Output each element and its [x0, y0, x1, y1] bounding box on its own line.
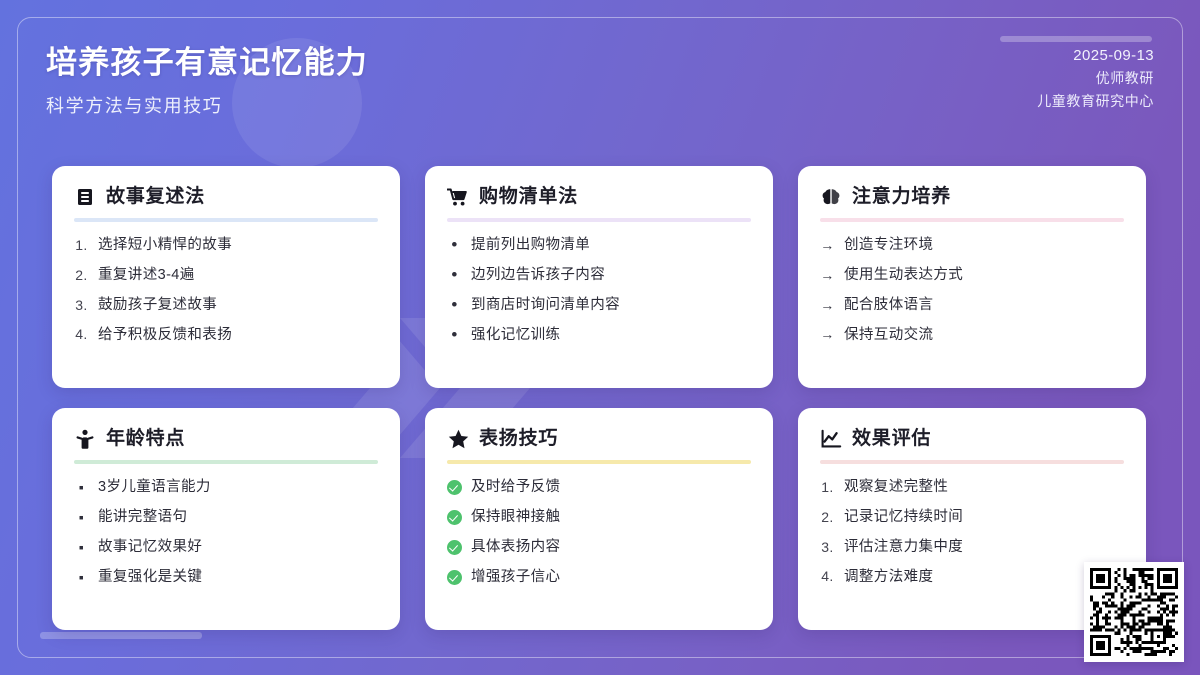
bullet-dot-icon: •: [447, 326, 462, 344]
bullet-square-icon: ▪: [74, 478, 89, 496]
list-item: 1.观察复述完整性: [820, 478, 1124, 497]
slide-header: 培养孩子有意记忆能力 科学方法与实用技巧 2025-09-13 优师教研 儿童教…: [0, 0, 1200, 150]
list-item-label: 强化记忆训练: [471, 326, 751, 345]
list-item-label: 及时给予反馈: [471, 478, 751, 497]
card-header: 注意力培养: [820, 186, 1124, 212]
chart-line-icon: [820, 428, 842, 450]
card-title: 注意力培养: [852, 187, 951, 208]
list-marker-number: 1.: [820, 478, 835, 496]
list-item-label: 到商店时询问清单内容: [471, 296, 751, 315]
list-item: •到商店时询问清单内容: [447, 296, 751, 315]
list-marker-number: 3.: [74, 296, 89, 314]
card-item-list: •提前列出购物清单•边列边告诉孩子内容•到商店时询问清单内容•强化记忆训练: [447, 236, 751, 344]
card-5: 表扬技巧及时给予反馈保持眼神接触具体表扬内容增强孩子信心: [425, 408, 773, 630]
page-subtitle: 科学方法与实用技巧: [46, 92, 368, 118]
list-item-label: 创造专注环境: [844, 236, 1124, 255]
arrow-right-icon: →: [820, 326, 835, 344]
list-item-label: 使用生动表达方式: [844, 266, 1124, 285]
list-marker-number: 2.: [820, 508, 835, 526]
card-header: 购物清单法: [447, 186, 751, 212]
check-circle-icon: [447, 480, 462, 495]
list-item: ▪重复强化是关键: [74, 568, 378, 587]
list-item: •强化记忆训练: [447, 326, 751, 345]
list-marker-number: 2.: [74, 266, 89, 284]
qr-code[interactable]: [1084, 562, 1184, 662]
list-marker-number: 1.: [74, 236, 89, 254]
card-title: 故事复述法: [106, 187, 205, 208]
list-item: 2.记录记忆持续时间: [820, 508, 1124, 527]
list-item-label: 具体表扬内容: [471, 538, 751, 557]
list-item-label: 3岁儿童语言能力: [98, 478, 378, 497]
bullet-square-icon: ▪: [74, 538, 89, 556]
card-header: 效果评估: [820, 428, 1124, 454]
card-4: 年龄特点▪3岁儿童语言能力▪能讲完整语句▪故事记忆效果好▪重复强化是关键: [52, 408, 400, 630]
card-underline: [447, 218, 751, 222]
list-item-label: 重复强化是关键: [98, 568, 378, 587]
list-item-label: 保持互动交流: [844, 326, 1124, 345]
arrow-right-icon: →: [820, 296, 835, 314]
list-item: 具体表扬内容: [447, 538, 751, 557]
shopping-cart-icon: [447, 186, 469, 208]
list-item-label: 记录记忆持续时间: [844, 508, 1124, 527]
list-item: ▪3岁儿童语言能力: [74, 478, 378, 497]
list-item: 3.鼓励孩子复述故事: [74, 296, 378, 315]
card-header: 故事复述法: [74, 186, 378, 212]
list-marker-number: 3.: [820, 538, 835, 556]
header-organization-sub: 儿童教育研究中心: [1037, 90, 1154, 113]
list-item: 保持眼神接触: [447, 508, 751, 527]
header-date: 2025-09-13: [1037, 44, 1154, 67]
card-item-list: 1.选择短小精悍的故事2.重复讲述3-4遍3.鼓励孩子复述故事4.给予积极反馈和…: [74, 236, 378, 344]
header-organization: 优师教研: [1037, 67, 1154, 90]
list-item: 增强孩子信心: [447, 568, 751, 587]
list-item: →创造专注环境: [820, 236, 1124, 255]
list-item: →使用生动表达方式: [820, 266, 1124, 285]
list-item: •提前列出购物清单: [447, 236, 751, 255]
list-item-label: 调整方法难度: [844, 568, 1124, 587]
list-item: •边列边告诉孩子内容: [447, 266, 751, 285]
card-underline: [74, 460, 378, 464]
list-item: →配合肢体语言: [820, 296, 1124, 315]
card-underline: [74, 218, 378, 222]
list-item-label: 边列边告诉孩子内容: [471, 266, 751, 285]
list-item-label: 配合肢体语言: [844, 296, 1124, 315]
header-title-block: 培养孩子有意记忆能力 科学方法与实用技巧: [46, 44, 368, 118]
bullet-square-icon: ▪: [74, 508, 89, 526]
list-marker-number: 4.: [74, 326, 89, 344]
decorative-bar-bottom-left: [40, 632, 202, 639]
card-grid: 故事复述法1.选择短小精悍的故事2.重复讲述3-4遍3.鼓励孩子复述故事4.给予…: [52, 166, 1152, 630]
page-title: 培养孩子有意记忆能力: [46, 44, 368, 83]
list-item-label: 观察复述完整性: [844, 478, 1124, 497]
arrow-right-icon: →: [820, 236, 835, 254]
arrow-right-icon: →: [820, 266, 835, 284]
list-item: 4.给予积极反馈和表扬: [74, 326, 378, 345]
card-item-list: ▪3岁儿童语言能力▪能讲完整语句▪故事记忆效果好▪重复强化是关键: [74, 478, 378, 586]
list-item-label: 能讲完整语句: [98, 508, 378, 527]
card-title: 年龄特点: [106, 429, 185, 450]
list-item-label: 重复讲述3-4遍: [98, 266, 378, 285]
card-title: 效果评估: [852, 429, 931, 450]
check-circle-icon: [447, 570, 462, 585]
card-underline: [820, 460, 1124, 464]
header-meta-block: 2025-09-13 优师教研 儿童教育研究中心: [1037, 44, 1154, 113]
child-icon: [74, 428, 96, 450]
list-item: 1.选择短小精悍的故事: [74, 236, 378, 255]
card-title: 购物清单法: [479, 187, 578, 208]
brain-icon: [820, 186, 842, 208]
list-item: →保持互动交流: [820, 326, 1124, 345]
card-underline: [820, 218, 1124, 222]
card-1: 故事复述法1.选择短小精悍的故事2.重复讲述3-4遍3.鼓励孩子复述故事4.给予…: [52, 166, 400, 388]
list-item-label: 鼓励孩子复述故事: [98, 296, 378, 315]
card-title: 表扬技巧: [479, 429, 558, 450]
card-item-list: →创造专注环境→使用生动表达方式→配合肢体语言→保持互动交流: [820, 236, 1124, 344]
bullet-square-icon: ▪: [74, 568, 89, 586]
list-item-label: 故事记忆效果好: [98, 538, 378, 557]
star-icon: [447, 428, 469, 450]
list-item-label: 选择短小精悍的故事: [98, 236, 378, 255]
list-item: 2.重复讲述3-4遍: [74, 266, 378, 285]
list-item: ▪能讲完整语句: [74, 508, 378, 527]
list-item-label: 保持眼神接触: [471, 508, 751, 527]
card-header: 年龄特点: [74, 428, 378, 454]
bullet-dot-icon: •: [447, 296, 462, 314]
list-item-label: 评估注意力集中度: [844, 538, 1124, 557]
list-item: ▪故事记忆效果好: [74, 538, 378, 557]
card-2: 购物清单法•提前列出购物清单•边列边告诉孩子内容•到商店时询问清单内容•强化记忆…: [425, 166, 773, 388]
card-item-list: 及时给予反馈保持眼神接触具体表扬内容增强孩子信心: [447, 478, 751, 586]
list-item-label: 增强孩子信心: [471, 568, 751, 587]
bullet-dot-icon: •: [447, 266, 462, 284]
list-item: 3.评估注意力集中度: [820, 538, 1124, 557]
bullet-dot-icon: •: [447, 236, 462, 254]
card-3: 注意力培养→创造专注环境→使用生动表达方式→配合肢体语言→保持互动交流: [798, 166, 1146, 388]
list-item: 及时给予反馈: [447, 478, 751, 497]
check-circle-icon: [447, 510, 462, 525]
list-item-label: 给予积极反馈和表扬: [98, 326, 378, 345]
check-circle-icon: [447, 540, 462, 555]
list-item-label: 提前列出购物清单: [471, 236, 751, 255]
card-item-list: 1.观察复述完整性2.记录记忆持续时间3.评估注意力集中度4.调整方法难度: [820, 478, 1124, 586]
notebook-icon: [74, 186, 96, 208]
card-underline: [447, 460, 751, 464]
list-marker-number: 4.: [820, 568, 835, 586]
card-header: 表扬技巧: [447, 428, 751, 454]
list-item: 4.调整方法难度: [820, 568, 1124, 587]
